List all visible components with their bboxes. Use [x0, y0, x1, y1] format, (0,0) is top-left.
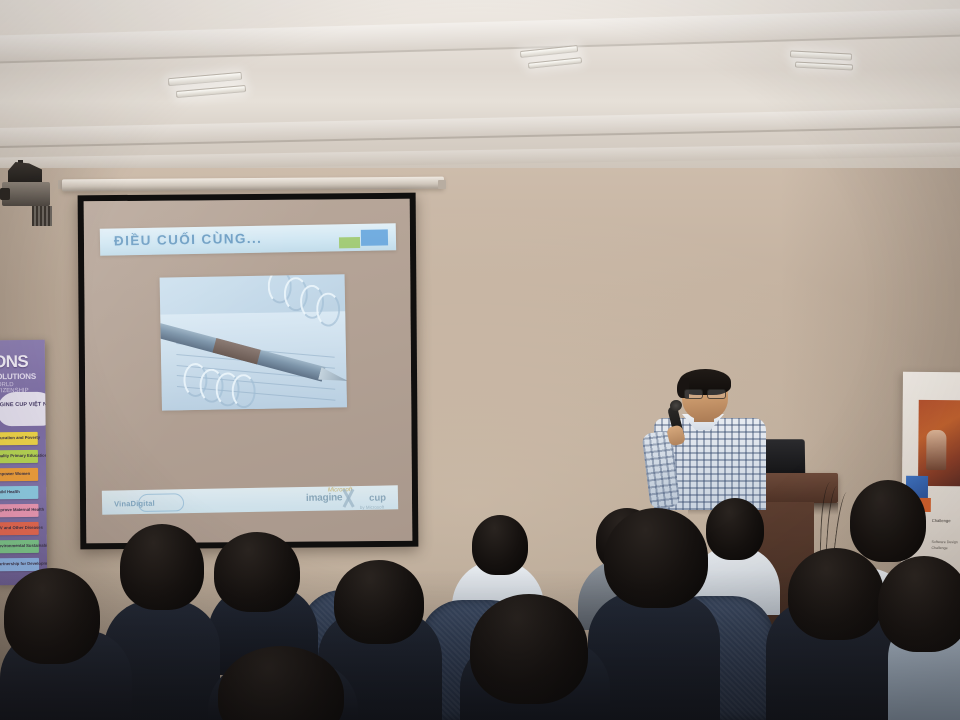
banner-left-row: Child Health: [0, 486, 38, 499]
ceiling-light-icon: [795, 61, 853, 70]
glasses-icon: [682, 389, 728, 397]
attendee-head: [470, 594, 588, 704]
screen-roller-cap: [438, 180, 446, 189]
banner-left-cloud-shape: [0, 392, 47, 427]
banner-left-row-label: HIV and Other Diseases: [0, 525, 43, 530]
projector-icon: [0, 160, 56, 212]
banner-right-heading: Challenge: [932, 518, 951, 524]
ceiling-light-icon: [528, 57, 582, 69]
notebook-coil: [316, 292, 341, 326]
banner-left-row-label: Improve Maternal Health: [0, 507, 44, 513]
attendee-head: [604, 508, 708, 608]
banner-left-year: IMAGINE CUP VIỆT NAM 2012: [0, 401, 47, 408]
presenter: [648, 370, 778, 505]
banner-left-row-label: Partnership for Development: [0, 561, 47, 567]
slide-title-bar: ĐIỀU CUỐI CÙNG...: [100, 223, 396, 255]
attendee-head: [4, 568, 100, 664]
banner-left-row-label: Quality Primary Education: [0, 453, 47, 459]
imagine-cup-logo-cup: cup: [369, 492, 386, 503]
projector-bracket: [8, 162, 42, 184]
ceiling: [0, 0, 960, 175]
screen-surface: ĐIỀU CUỐI CÙNG...: [84, 199, 413, 544]
slide-title: ĐIỀU CUỐI CÙNG...: [114, 231, 263, 249]
attendee-head: [120, 524, 204, 610]
banner-right-photo: [918, 400, 960, 486]
attendee-head: [334, 560, 424, 644]
banner-left-row: Education and Poverty: [0, 432, 38, 445]
banner-left-row-label: Empower Women: [0, 471, 30, 476]
banner-left-subtitle: SOLUTIONS: [0, 372, 36, 381]
slide-photo-pen-notebook: [160, 274, 347, 410]
banner-left-row: Partnership for Development: [0, 558, 39, 571]
projector-lens: [0, 188, 10, 200]
attendee-head: [850, 480, 926, 562]
banner-left-row: Improve Maternal Health: [0, 504, 39, 517]
slide-accent-green-square: [339, 237, 360, 248]
ceiling-light-icon: [168, 72, 242, 86]
slide-accent-blue-square: [361, 229, 388, 245]
banner-left-row: Quality Primary Education: [0, 450, 38, 463]
vinadigital-logo-text: VinaDigital: [114, 499, 155, 509]
banner-left-imagine-cup: IONS SOLUTIONS WORLD CITIZENSHIP IMAGINE…: [0, 340, 47, 586]
conference-photo: ĐIỀU CUỐI CÙNG...: [0, 0, 960, 720]
banner-left-row: HIV and Other Diseases: [0, 522, 39, 535]
banner-right-body: Software Design Challenge: [931, 540, 960, 552]
projector-vent: [32, 206, 52, 226]
imagine-cup-logo: Microsoft imagine cup by Microsoft: [304, 487, 390, 509]
slide-footer: VinaDigital Microsoft imagine cup by Mic…: [102, 485, 398, 514]
banner-left-row-label: Child Health: [0, 489, 20, 494]
banner-right-photo-figure: [926, 430, 946, 470]
attendee-head: [472, 515, 528, 575]
banner-left-row: Environmental Sustainability: [0, 540, 39, 553]
ceiling-light-icon: [790, 50, 852, 60]
banner-left-row-label: Education and Poverty: [0, 435, 40, 440]
imagine-cup-x-icon: [338, 488, 360, 508]
imagine-cup-logo-sub: by Microsoft: [360, 505, 384, 510]
banner-left-row-label: Environmental Sustainability: [0, 543, 47, 549]
attendee-head: [706, 498, 764, 560]
ceiling-light-icon: [176, 85, 246, 98]
attendee-head: [214, 532, 300, 612]
vinadigital-logo: VinaDigital: [114, 493, 188, 511]
banner-left-row: Empower Women: [0, 468, 38, 481]
presentation-slide: ĐIỀU CUỐI CÙNG...: [84, 199, 413, 544]
attendee-head: [788, 548, 884, 640]
notebook-coil: [231, 374, 256, 408]
attendee-head: [878, 556, 960, 652]
projection-screen: ĐIỀU CUỐI CÙNG...: [78, 193, 419, 550]
banner-left-title: IONS: [0, 352, 28, 372]
